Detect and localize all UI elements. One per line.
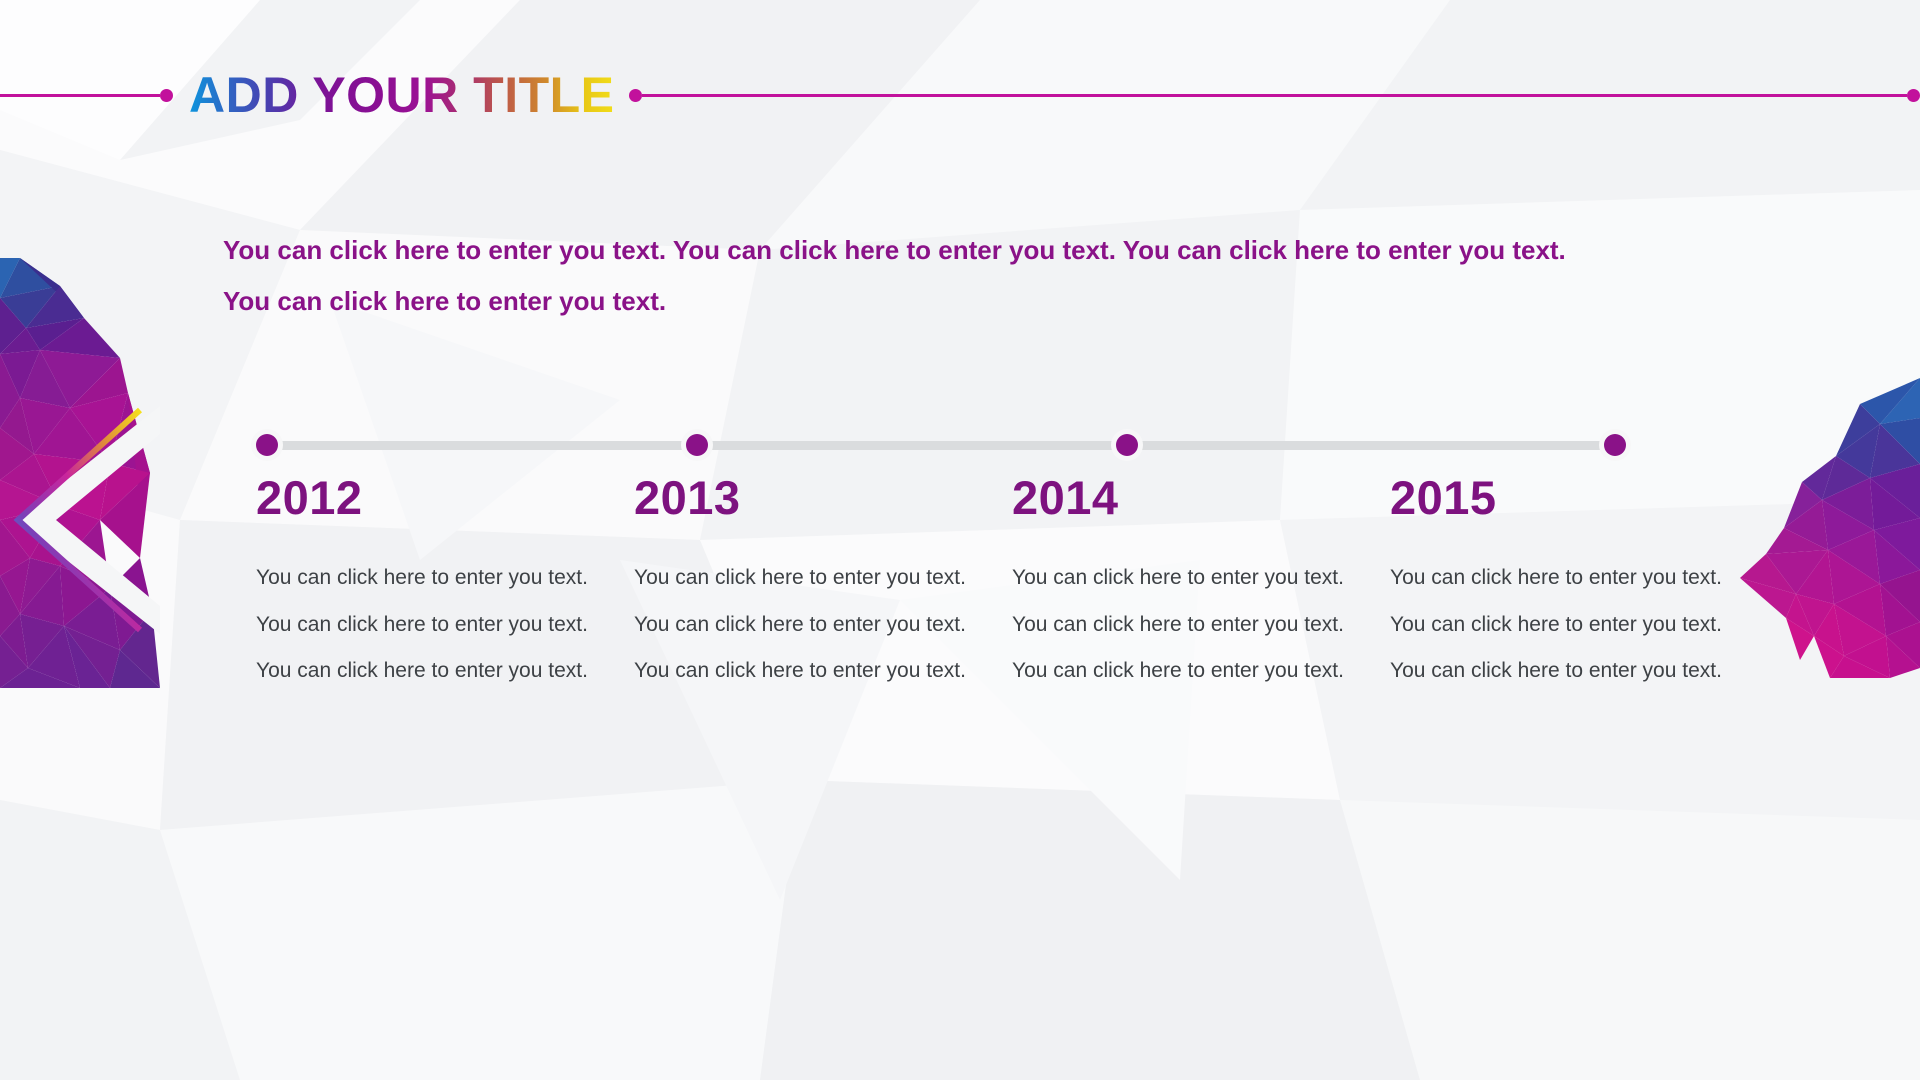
timeline-dot-2014[interactable]	[1116, 434, 1138, 456]
timeline-description: You can click here to enter you text. Yo…	[1012, 555, 1382, 695]
title-dot-end	[1907, 89, 1920, 102]
title-dot-left	[160, 89, 173, 102]
title-rule-left	[0, 94, 160, 97]
timeline-description: You can click here to enter you text. Yo…	[634, 555, 1004, 695]
right-diamond-decoration	[1740, 378, 1920, 678]
page-title: ADD YOUR TITLE	[173, 70, 629, 120]
left-chevron-decoration	[0, 258, 160, 688]
timeline: 2012 You can click here to enter you tex…	[256, 400, 1646, 780]
slide-title-row: ADD YOUR TITLE	[0, 64, 1920, 126]
timeline-item-2013: 2013 You can click here to enter you tex…	[634, 474, 1004, 695]
title-dot-right	[629, 89, 642, 102]
timeline-item-2014: 2014 You can click here to enter you tex…	[1012, 474, 1382, 695]
intro-paragraph: You can click here to enter you text. Yo…	[223, 225, 1583, 326]
timeline-dot-2013[interactable]	[686, 434, 708, 456]
right-diamond-facets	[1740, 378, 1920, 678]
timeline-dot-2012[interactable]	[256, 434, 278, 456]
timeline-dot-2015[interactable]	[1604, 434, 1626, 456]
timeline-year-label: 2013	[634, 474, 1004, 521]
timeline-item-2012: 2012 You can click here to enter you tex…	[256, 474, 626, 695]
timeline-bar	[274, 441, 1618, 450]
timeline-year-label: 2012	[256, 474, 626, 521]
title-rule-right	[642, 94, 1907, 97]
timeline-description: You can click here to enter you text. Yo…	[256, 555, 626, 695]
timeline-year-label: 2015	[1390, 474, 1760, 521]
timeline-columns: 2012 You can click here to enter you tex…	[256, 474, 1646, 695]
timeline-year-label: 2014	[1012, 474, 1382, 521]
timeline-item-2015: 2015 You can click here to enter you tex…	[1390, 474, 1760, 695]
timeline-description: You can click here to enter you text. Yo…	[1390, 555, 1760, 695]
